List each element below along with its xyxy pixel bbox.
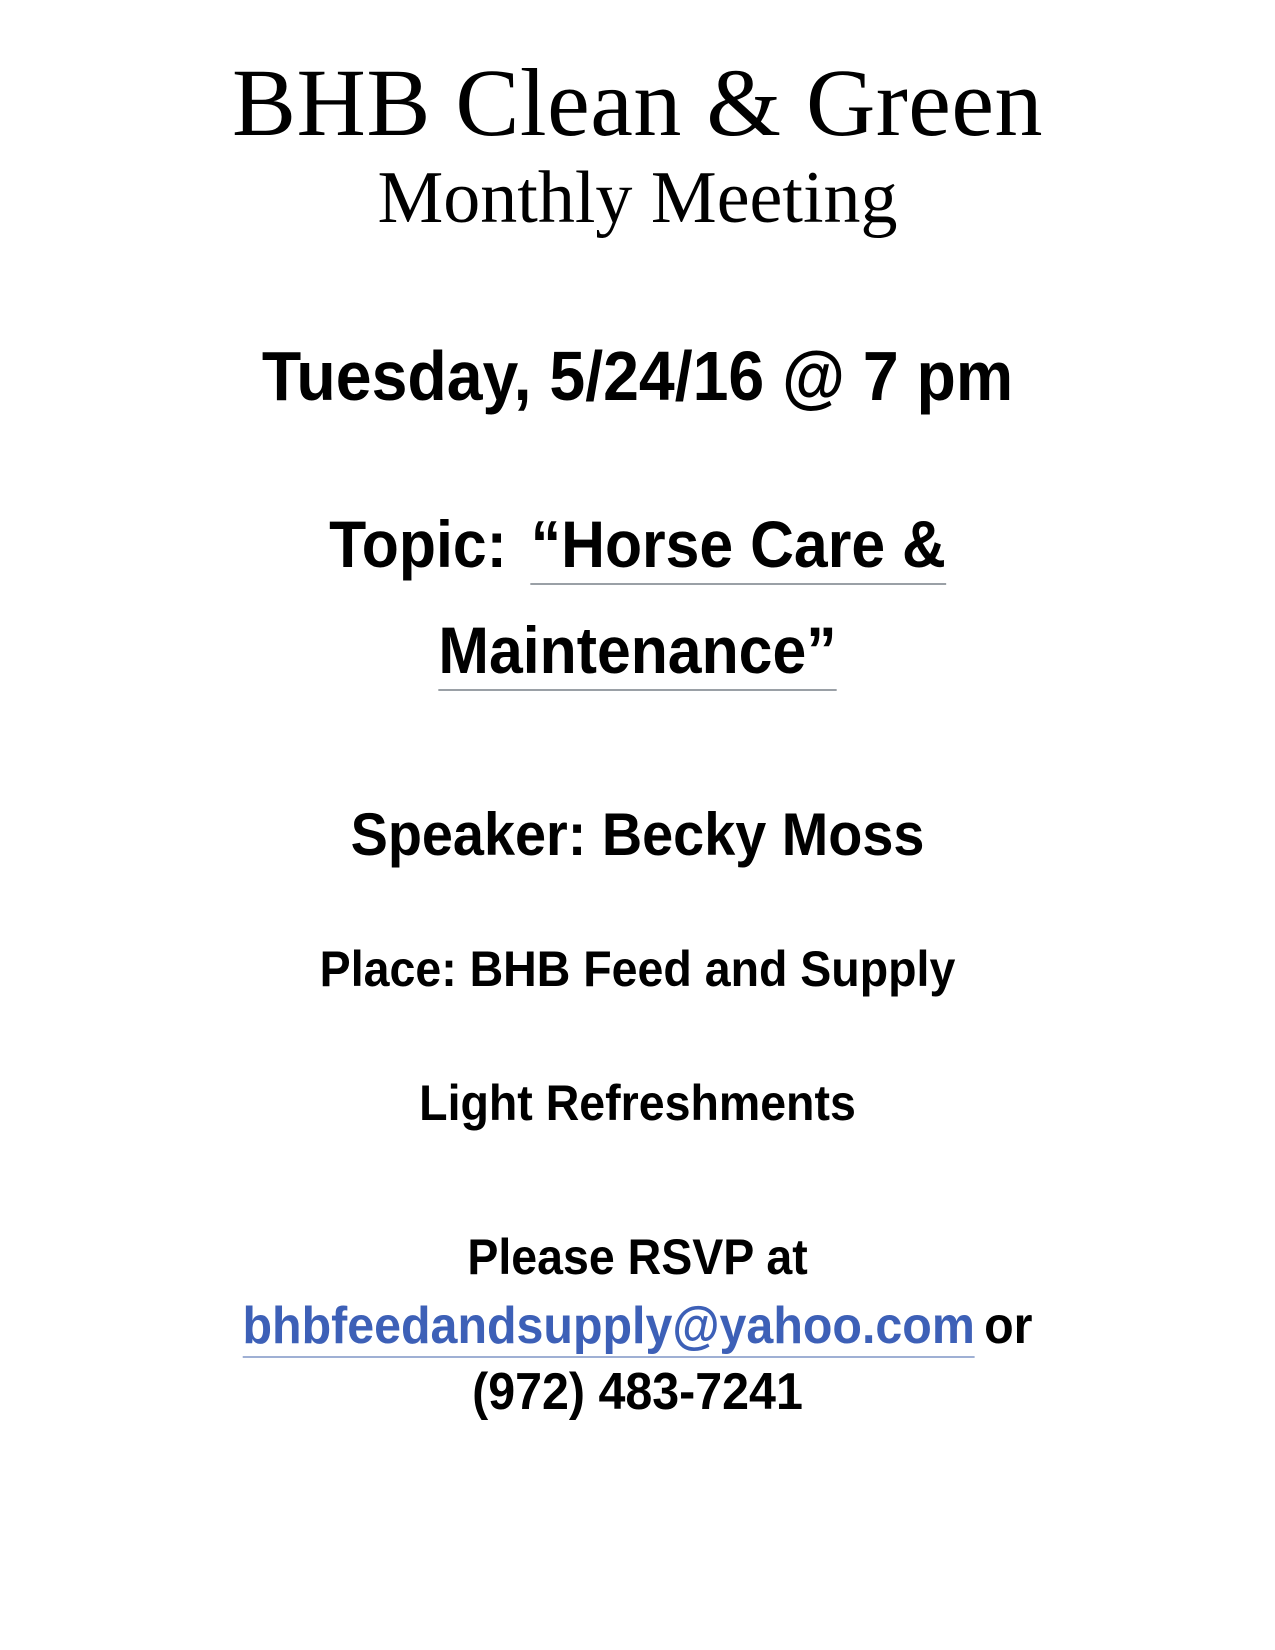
flyer-title-block: BHB Clean & Green Monthly Meeting (0, 54, 1275, 244)
flyer-page: BHB Clean & Green Monthly Meeting Tuesda… (0, 0, 1275, 1650)
topic-line-two: Maintenance” (51, 612, 1224, 688)
speaker-line: Speaker: Becky Moss (45, 800, 1231, 869)
rsvp-email-link[interactable]: bhbfeedandsupply@yahoo.com (242, 1297, 974, 1358)
page-title: BHB Clean & Green (0, 54, 1275, 152)
topic-label: Topic: (329, 507, 531, 581)
page-subtitle: Monthly Meeting (0, 152, 1275, 245)
meeting-datetime: Tuesday, 5/24/16 @ 7 pm (51, 336, 1224, 416)
rsvp-prompt: Please RSVP at (45, 1228, 1231, 1286)
rsvp-conjunction: or (975, 1297, 1033, 1355)
refreshments-line: Light Refreshments (45, 1074, 1231, 1132)
rsvp-phone-number: (972) 483-7241 (45, 1362, 1231, 1422)
topic-value-part-one: “Horse Care & (531, 507, 946, 585)
topic-line-one: Topic:“Horse Care & (51, 506, 1224, 582)
topic-value-part-two: Maintenance” (438, 613, 836, 691)
place-line: Place: BHB Feed and Supply (45, 940, 1231, 998)
rsvp-contact-line: bhbfeedandsupply@yahoo.comor (45, 1296, 1231, 1356)
